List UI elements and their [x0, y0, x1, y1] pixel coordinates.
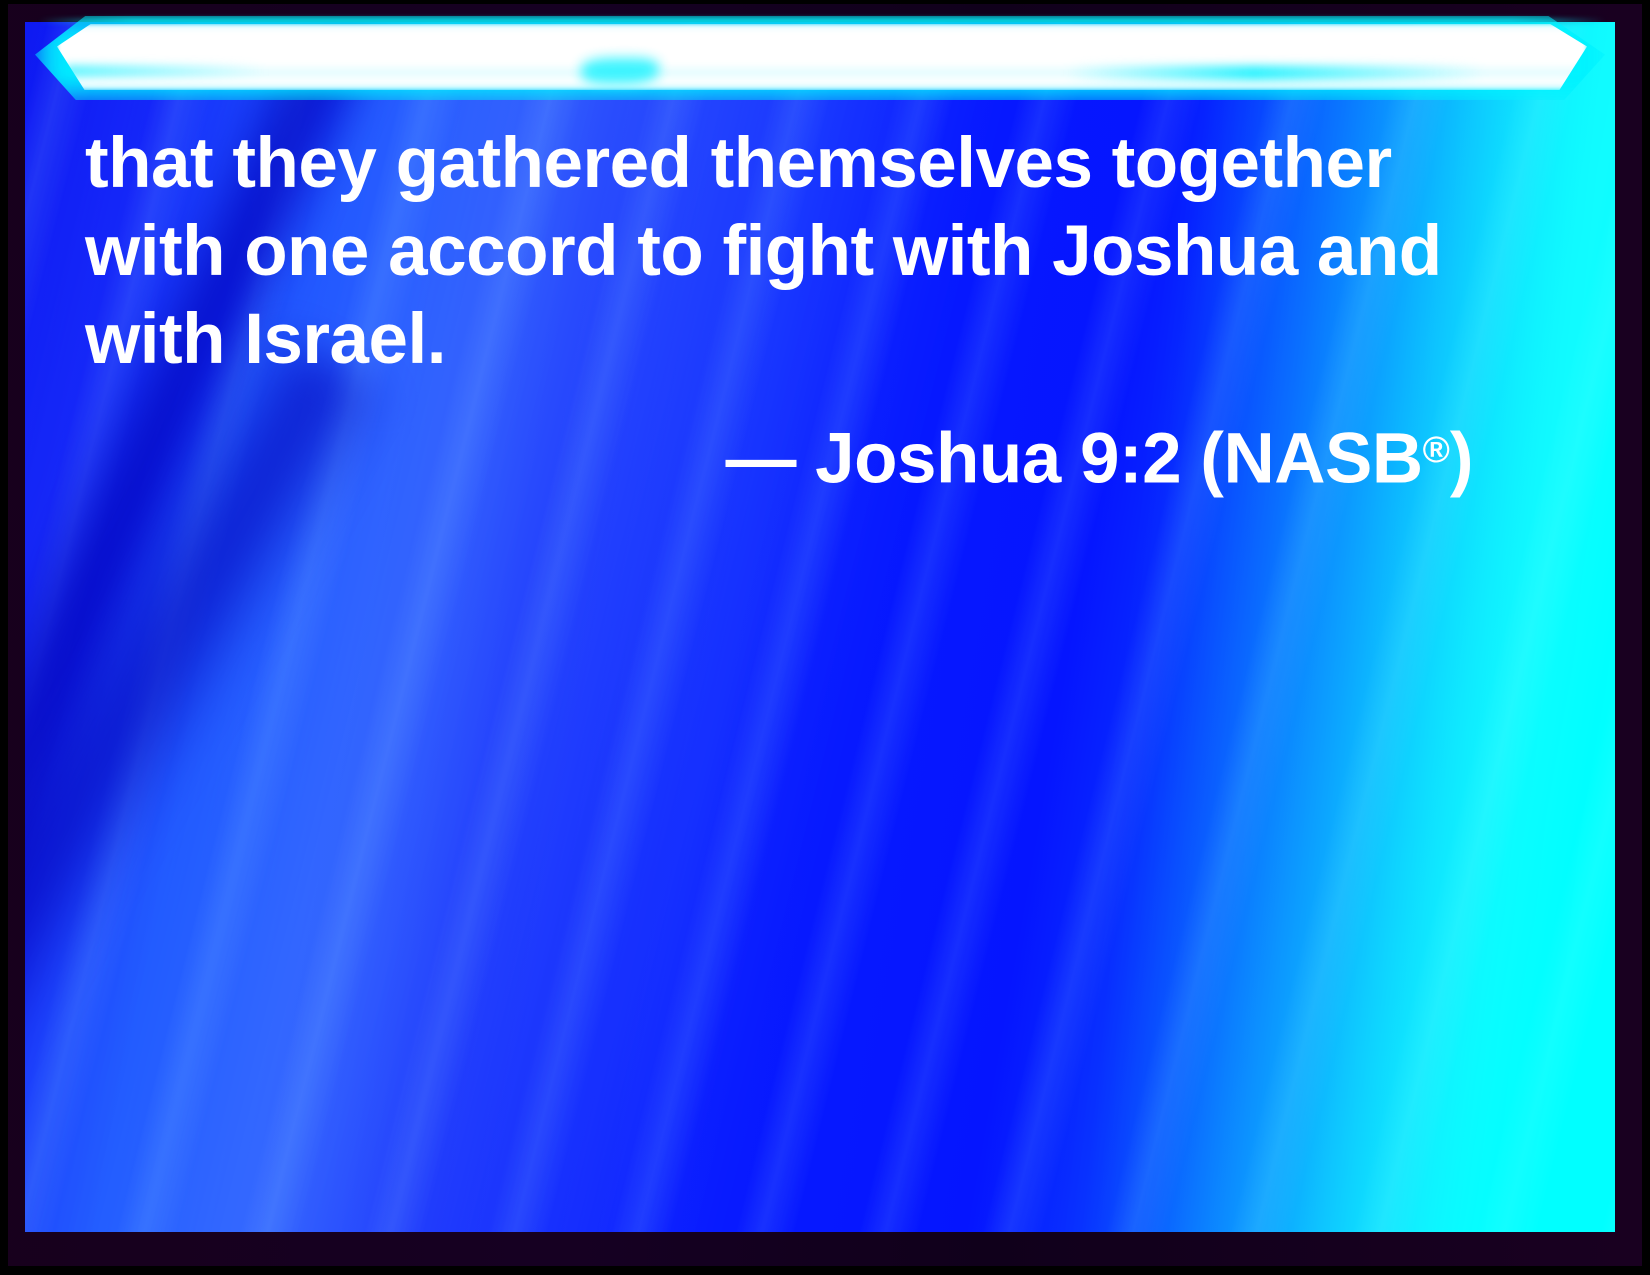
verse-text: that they gathered themselves together w…	[85, 120, 1485, 384]
attribution-em-dash: —	[725, 419, 796, 498]
light-bar-streak-left	[65, 66, 265, 76]
top-light-bar	[25, 22, 1615, 108]
verse-block: that they gathered themselves together w…	[85, 120, 1485, 503]
verse-attribution: — Joshua 9:2 (NASB®)	[85, 384, 1485, 503]
light-bar-streak-right	[1065, 66, 1485, 80]
registered-trademark-icon: ®	[1423, 429, 1450, 470]
attribution-close-paren: )	[1450, 419, 1473, 498]
light-bar-core	[57, 24, 1587, 90]
scripture-slide: that they gathered themselves together w…	[0, 0, 1650, 1275]
light-bar-cyan-blob	[581, 58, 659, 84]
attribution-reference: Joshua 9:2 (NASB	[815, 419, 1422, 498]
